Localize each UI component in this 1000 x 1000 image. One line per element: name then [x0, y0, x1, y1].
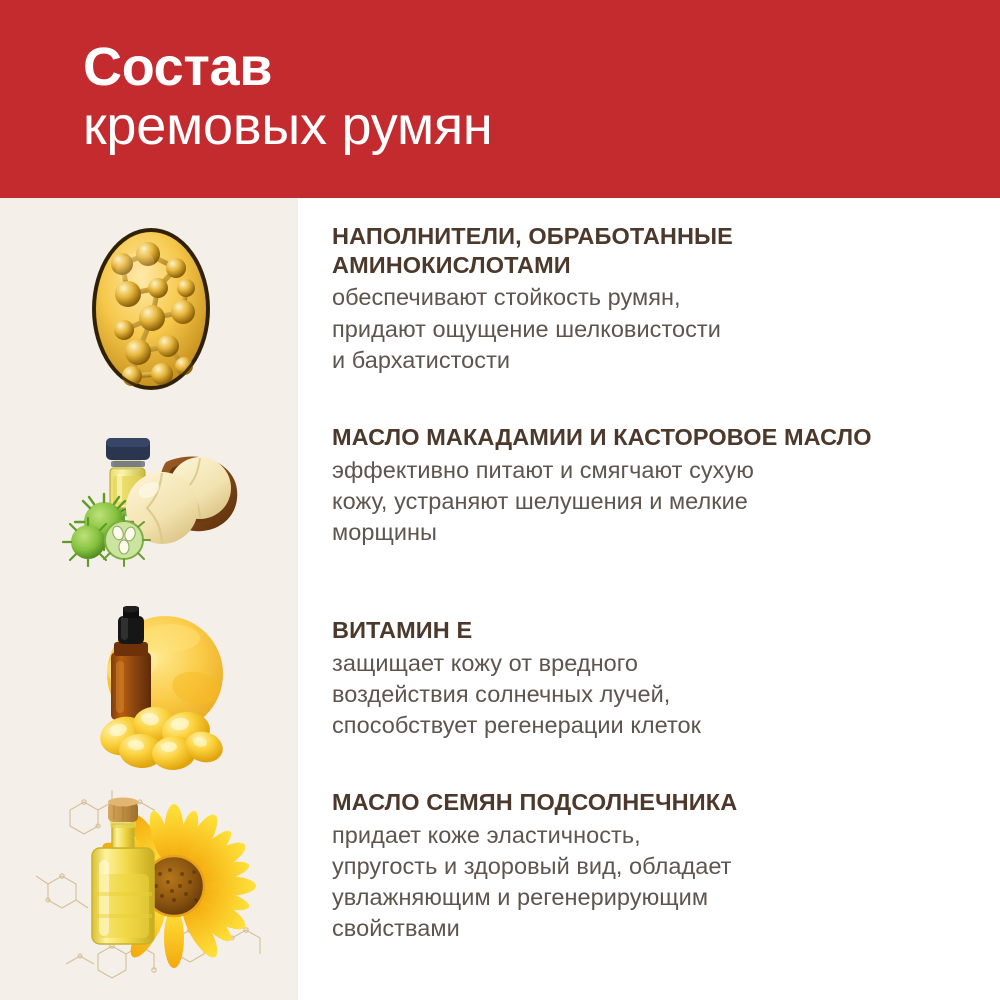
ingredient-block: МАСЛО СЕМЯН ПОДСОЛНЕЧНИКА придает коже э… [332, 788, 962, 945]
ingredient-title: МАСЛО МАКАДАМИИ И КАСТОРОВОЕ МАСЛО [332, 423, 962, 452]
ingredient-block: НАПОЛНИТЕЛИ, ОБРАБОТАННЫЕ АМИНОКИСЛОТАМИ… [332, 222, 962, 376]
ingredients-infographic-page: Состав кремовых румян [0, 0, 1000, 1000]
ingredient-description: эффективно питают и смягчают сухую кожу,… [332, 455, 962, 549]
body-area: НАПОЛНИТЕЛИ, ОБРАБОТАННЫЕ АМИНОКИСЛОТАМИ… [0, 198, 1000, 1000]
macadamia-castor-oil-image [48, 420, 258, 580]
header-banner: Состав кремовых румян [0, 0, 1000, 198]
vitamin-e-dropper-capsules-image [70, 606, 260, 776]
ingredient-description: обеспечивают стойкость румян, придают ощ… [332, 282, 962, 376]
ingredient-description: защищает кожу от вредного воздействия со… [332, 648, 962, 742]
sunflower-seed-oil-image [36, 788, 268, 988]
page-title-bold: Состав [83, 40, 1000, 95]
page-title-light: кремовых румян [83, 95, 1000, 157]
golden-molecule-capsule-image [88, 226, 214, 392]
ingredient-description: придает коже эластичность, упругость и з… [332, 820, 962, 945]
ingredient-title: ВИТАМИН Е [332, 616, 962, 645]
ingredient-block: ВИТАМИН Е защищает кожу от вредного возд… [332, 616, 962, 741]
illustration-column [0, 198, 298, 1000]
ingredients-text-column: НАПОЛНИТЕЛИ, ОБРАБОТАННЫЕ АМИНОКИСЛОТАМИ… [298, 198, 1000, 1000]
ingredient-block: МАСЛО МАКАДАМИИ И КАСТОРОВОЕ МАСЛО эффек… [332, 423, 962, 548]
ingredient-title: НАПОЛНИТЕЛИ, ОБРАБОТАННЫЕ АМИНОКИСЛОТАМИ [332, 222, 962, 279]
ingredient-title: МАСЛО СЕМЯН ПОДСОЛНЕЧНИКА [332, 788, 962, 817]
